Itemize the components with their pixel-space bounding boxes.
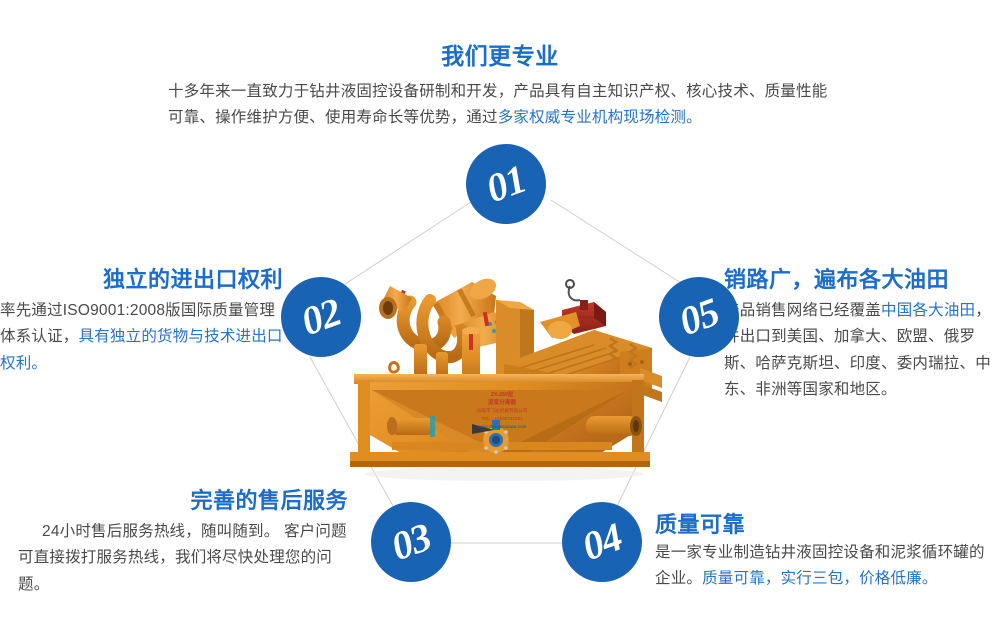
feature-heading-import-export: 独立的进出口权利 <box>0 266 283 294</box>
feature-highlight-distribution: 中国各大油田 <box>881 302 975 319</box>
feature-body-distribution: 产品销售网络已经覆盖中国各大油田，并出口到美国、加拿大、欧盟、俄罗斯、哈萨克斯坦… <box>724 298 996 405</box>
feature-body-quality: 是一家专业制造钻井液固控设备和泥浆循环罐的企业。质量可靠，实行三包，价格低廉。 <box>655 540 992 593</box>
badge-circle-05[interactable]: 05 <box>659 277 739 357</box>
feature-heading-professional: 我们更专业 <box>150 42 850 71</box>
feature-block-distribution: 销路广，遍布各大油田 产品销售网络已经覆盖中国各大油田，并出口到美国、加拿大、欧… <box>724 266 996 404</box>
machine-label-line-4: TEL：15936731031 <box>481 416 523 421</box>
feature-block-import-export: 独立的进出口权利 率先通过ISO9001:2008版国际质量管理体系认证，具有独… <box>0 266 283 377</box>
badge-circle-02[interactable]: 02 <box>281 277 361 357</box>
machine-label-line-1: ZX-250型 <box>491 390 514 398</box>
machine-label-line-3: 乐陵市飞达机械有限公司 <box>477 407 528 414</box>
machine-label-line-2: 泥浆分离器 <box>488 398 516 406</box>
feature-highlight-professional: 多家权威专业机构现场检测 <box>498 109 686 126</box>
feature-heading-distribution: 销路广，遍布各大油田 <box>724 266 996 294</box>
badge-number-03: 03 <box>386 517 435 568</box>
feature-body-after-sales: 24小时售后服务热线，随叫随到。 客户问题可直接拨打服务热线，我们将尽快处理您的… <box>18 519 348 599</box>
badge-circle-03[interactable]: 03 <box>371 502 451 582</box>
feature-block-after-sales: 完善的售后服务 24小时售后服务热线，随叫随到。 客户问题可直接拨打服务热线，我… <box>18 487 348 598</box>
feature-block-quality: 质量可靠 是一家专业制造钻井液固控设备和泥浆循环罐的企业。质量可靠，实行三包，价… <box>655 511 992 593</box>
feature-body-professional-tail: 。 <box>686 109 702 126</box>
badge-number-05: 05 <box>674 292 723 343</box>
machine-label-line-5: www.shenglexinwu.com <box>478 424 527 429</box>
machine-product-image: ZX-250型 泥浆分离器 乐陵市飞达机械有限公司 TEL：1593673103… <box>344 252 662 484</box>
feature-body-distribution-text: 产品销售网络已经覆盖 <box>724 302 881 319</box>
feature-body-professional: 十多年来一直致力于钻井液固控设备研制和开发，产品具有自主知识产权、核心技术、质量… <box>150 79 850 132</box>
badge-number-04: 04 <box>577 517 626 568</box>
feature-heading-quality: 质量可靠 <box>655 511 992 539</box>
infographic-canvas: ZX-250型 泥浆分离器 乐陵市飞达机械有限公司 TEL：1593673103… <box>0 0 1000 642</box>
feature-body-import-export: 率先通过ISO9001:2008版国际质量管理体系认证，具有独立的货物与技术进出… <box>0 298 283 378</box>
badge-number-02: 02 <box>296 292 345 343</box>
badge-circle-04[interactable]: 04 <box>562 502 642 582</box>
feature-heading-after-sales: 完善的售后服务 <box>18 487 348 515</box>
feature-highlight-quality: 质量可靠，实行三包，价格低廉。 <box>702 570 938 587</box>
badge-circle-01[interactable]: 01 <box>466 144 546 224</box>
badge-number-01: 01 <box>481 159 530 210</box>
feature-block-professional: 我们更专业 十多年来一直致力于钻井液固控设备研制和开发，产品具有自主知识产权、核… <box>150 42 850 132</box>
